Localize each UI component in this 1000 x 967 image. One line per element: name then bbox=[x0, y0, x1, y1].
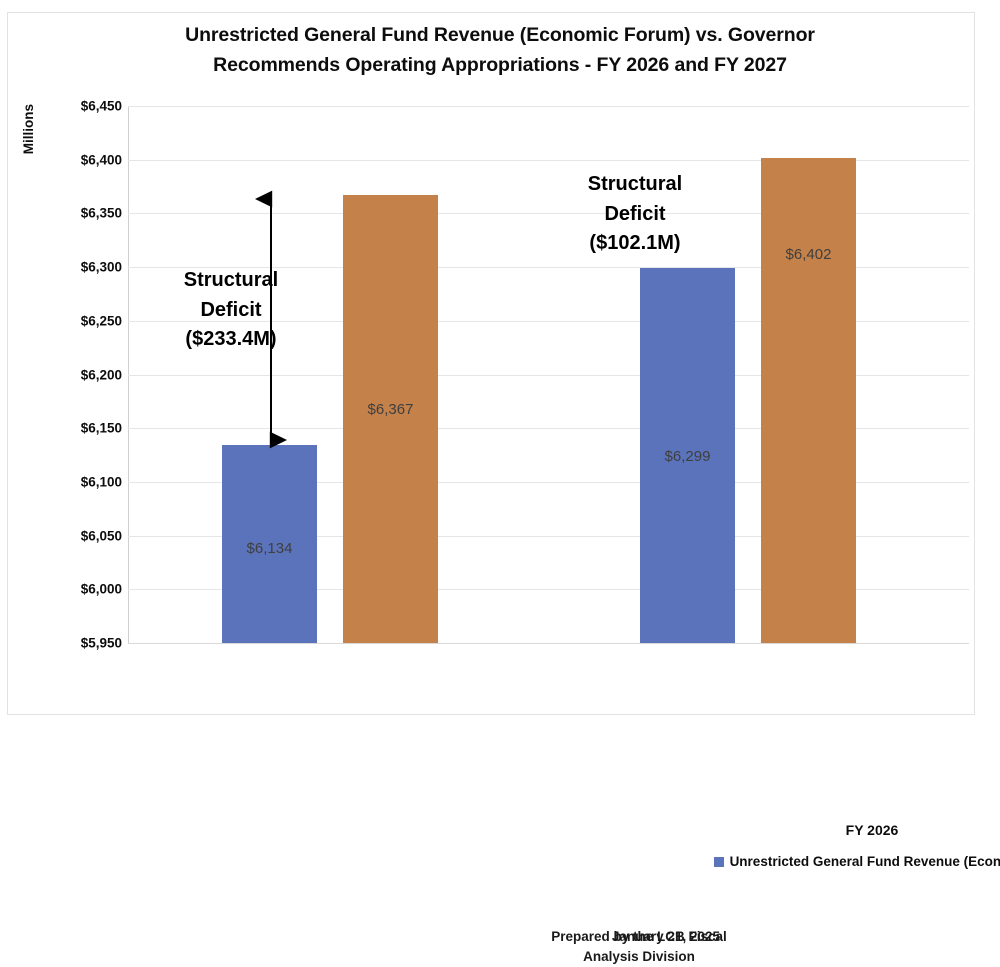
bar-fy2026-appropriations[interactable]: $6,367 bbox=[343, 195, 438, 643]
gridline bbox=[128, 106, 969, 107]
legend-swatch-icon bbox=[714, 857, 724, 867]
annotation-arrow-fy2026 bbox=[258, 190, 284, 448]
legend-label: Unrestricted General Fund Revenue (Econo… bbox=[730, 852, 1000, 872]
annotation-fy2027-deficit: Structural Deficit ($102.1M) FY 2026 FY … bbox=[540, 170, 730, 259]
annotation-line-3: ($102.1M) bbox=[540, 229, 730, 259]
bar-value-label: $6,367 bbox=[343, 401, 438, 418]
chart-title: Unrestricted General Fund Revenue (Econo… bbox=[0, 20, 1000, 80]
footer-date: January 21, 2025 bbox=[612, 927, 720, 947]
chart-title-line-2: Recommends Operating Appropriations - FY… bbox=[0, 50, 1000, 80]
chart-legend: Unrestricted General Fund Revenue (Econo… bbox=[668, 852, 1000, 872]
y-tick-label: $6,100 bbox=[6, 474, 122, 489]
x-axis-line bbox=[128, 643, 969, 644]
annotation-line-1: Structural bbox=[540, 170, 730, 200]
legend-entry-revenue[interactable]: Unrestricted General Fund Revenue (Econo… bbox=[714, 852, 1000, 872]
y-tick-label: $6,350 bbox=[6, 206, 122, 221]
y-tick-label: $6,400 bbox=[6, 152, 122, 167]
x-tick-label-fy2026: FY 2026 bbox=[802, 820, 942, 841]
y-tick-label: $6,450 bbox=[6, 99, 122, 114]
annotation-line-1: Structural bbox=[136, 266, 326, 296]
bar-fy2027-revenue[interactable]: $6,299 bbox=[640, 268, 735, 643]
y-tick-label: $6,150 bbox=[6, 421, 122, 436]
chart-title-line-1: Unrestricted General Fund Revenue (Econo… bbox=[0, 20, 1000, 50]
bar-fy2026-revenue[interactable]: $6,134 bbox=[222, 445, 317, 643]
bar-fy2027-appropriations[interactable]: $6,402 bbox=[761, 158, 856, 643]
y-tick-label: $6,050 bbox=[6, 528, 122, 543]
y-tick-label: $6,250 bbox=[6, 313, 122, 328]
annotation-line-2: Deficit bbox=[540, 200, 730, 230]
bar-value-label: $6,402 bbox=[761, 246, 856, 263]
y-tick-label: $6,000 bbox=[6, 582, 122, 597]
y-tick-label: $6,300 bbox=[6, 260, 122, 275]
bar-value-label: $6,134 bbox=[222, 540, 317, 557]
annotation-line-2: Deficit bbox=[136, 296, 326, 326]
y-axis-tick-labels: $6,450 $6,400 $6,350 $6,300 $6,250 $6,20… bbox=[0, 0, 122, 783]
annotation-fy2026-deficit: Structural Deficit ($233.4M) bbox=[136, 266, 326, 355]
y-tick-label: $6,200 bbox=[6, 367, 122, 382]
bar-value-label: $6,299 bbox=[640, 448, 735, 465]
annotation-line-3: ($233.4M) bbox=[136, 325, 326, 355]
y-tick-label: $5,950 bbox=[6, 636, 122, 651]
